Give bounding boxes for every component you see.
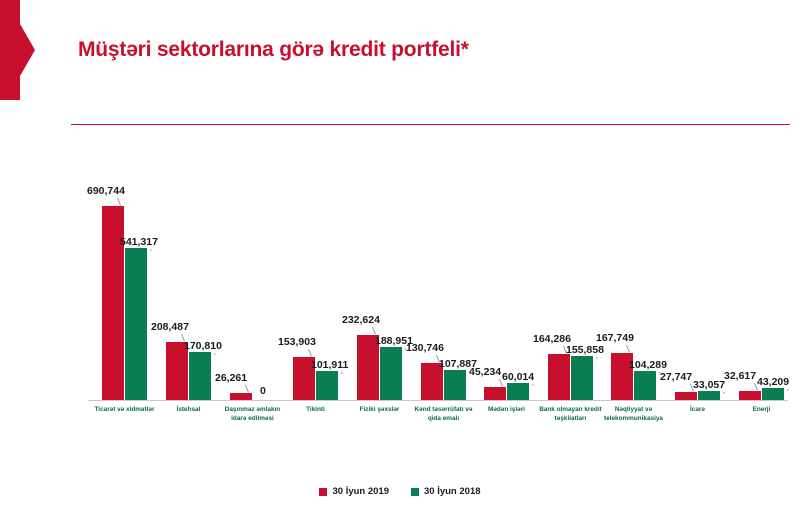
bar-series-2018[interactable] xyxy=(634,371,656,400)
bar-group xyxy=(675,190,720,400)
bar-chart: 690,744541,317Ticarət və xidmətlər208,48… xyxy=(0,0,800,511)
x-axis-category-label: Daşınmaz əmlakın idarə edilməsi xyxy=(221,406,285,423)
x-axis-category-label: Mədən işləri xyxy=(475,406,539,415)
legend-item[interactable]: 30 İyun 2018 xyxy=(411,486,481,497)
chart-legend: 30 İyun 201930 İyun 2018 xyxy=(0,486,800,497)
legend-label: 30 İyun 2019 xyxy=(332,486,389,497)
bar-series-2018[interactable] xyxy=(698,391,720,400)
bar-value-label: 541,317 xyxy=(120,237,158,248)
bar-value-label: 164,286 xyxy=(533,334,571,345)
x-axis-category-label: Nəqliyyat və telekommunikasiya xyxy=(602,406,666,423)
bar-series-2018[interactable] xyxy=(316,371,338,400)
bar-series-2019[interactable] xyxy=(484,387,506,400)
legend-label: 30 İyun 2018 xyxy=(424,486,481,497)
bar-value-label: 170,810 xyxy=(184,341,222,352)
bar-group xyxy=(739,190,784,400)
bar-series-2019[interactable] xyxy=(548,354,570,400)
bar-value-label: 130,746 xyxy=(406,343,444,354)
bar-value-label: 104,289 xyxy=(629,360,667,371)
bar-value-label: 60,014 xyxy=(502,372,534,383)
bar-group xyxy=(166,190,211,400)
bar-value-label: 101,911 xyxy=(311,360,348,371)
bar-value-label: 33,057 xyxy=(693,380,725,391)
bar-series-2018[interactable] xyxy=(380,347,402,400)
legend-swatch-icon xyxy=(411,488,419,496)
x-axis-category-label: Tikinti xyxy=(284,406,348,415)
legend-swatch-icon xyxy=(319,488,327,496)
bar-series-2019[interactable] xyxy=(739,391,761,400)
bar-value-label: 43,209 xyxy=(757,377,789,388)
bar-value-label: 32,617 xyxy=(724,371,756,382)
bar-series-2018[interactable] xyxy=(125,248,147,400)
x-axis-category-label: İstehsal xyxy=(157,406,221,415)
legend-item[interactable]: 30 İyun 2019 xyxy=(319,486,389,497)
bar-series-2018[interactable] xyxy=(189,352,211,400)
bar-series-2019[interactable] xyxy=(230,393,252,400)
x-axis-category-label: Kənd təsərrüfatı və qida emalı xyxy=(412,406,476,423)
bar-group xyxy=(548,190,593,400)
chart-baseline-axis xyxy=(88,400,788,401)
bar-group xyxy=(102,190,147,400)
bar-value-label: 167,749 xyxy=(596,333,634,344)
bar-value-label: 27,747 xyxy=(660,372,692,383)
bar-value-label: 153,903 xyxy=(278,337,316,348)
bar-group xyxy=(230,190,275,400)
value-leader-line xyxy=(787,389,789,391)
bar-series-2018[interactable] xyxy=(571,356,593,400)
x-axis-category-label: Fiziki şəxslər xyxy=(348,406,412,415)
bar-value-label: 690,744 xyxy=(87,186,125,197)
bar-value-label: 208,487 xyxy=(151,322,189,333)
bar-value-label: 45,234 xyxy=(469,367,501,378)
x-axis-category-label: Ticarət və xidmətlər xyxy=(93,406,157,415)
bar-series-2018[interactable] xyxy=(507,383,529,400)
bar-group xyxy=(357,190,402,400)
bar-value-label: 0 xyxy=(260,386,266,397)
bar-series-2018[interactable] xyxy=(444,370,466,400)
bar-value-label: 26,261 xyxy=(215,373,247,384)
bar-value-label: 232,624 xyxy=(342,315,380,326)
bar-series-2019[interactable] xyxy=(675,392,697,400)
bar-series-2018[interactable] xyxy=(762,388,784,400)
x-axis-category-label: İcarə xyxy=(666,406,730,415)
chart-plot-area xyxy=(88,190,788,400)
bar-value-label: 155,858 xyxy=(566,345,604,356)
x-axis-category-label: Enerji xyxy=(730,406,794,415)
x-axis-category-label: Bank olmayan kredit təşkilatları xyxy=(539,406,603,423)
